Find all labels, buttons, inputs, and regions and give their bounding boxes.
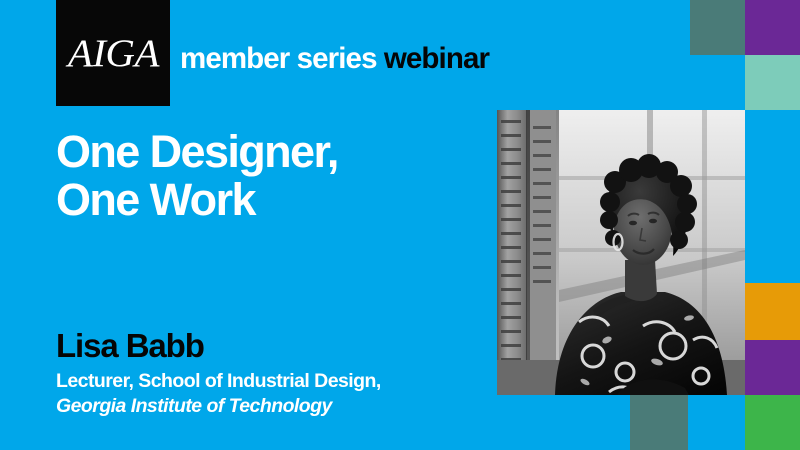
webinar-promo-slide: AIGA member series webinar One Designer,… <box>0 0 800 450</box>
swatch-mint-row2-right <box>745 55 800 110</box>
series-label-dark: webinar <box>384 42 489 75</box>
speaker-photo <box>497 110 745 395</box>
swatch-teal-bottom-left <box>630 395 688 450</box>
swatch-teal-top-left <box>690 0 745 55</box>
speaker-organization: Georgia Institute of Technology <box>56 394 486 419</box>
speaker-role: Lecturer, School of Industrial Design, <box>56 369 486 394</box>
series-label-light: member series <box>180 42 384 75</box>
swatch-purple-top-right <box>745 0 800 55</box>
slide-title-line-2: One Work <box>56 176 476 224</box>
swatch-green-bottom <box>745 395 800 450</box>
swatch-purple-bottom <box>745 340 800 395</box>
aiga-wordmark: AIGA <box>67 34 158 73</box>
speaker-name: Lisa Babb <box>56 328 486 364</box>
slide-title-line-1: One Designer, <box>56 128 476 176</box>
swatch-orange-mid-right <box>745 283 800 340</box>
speaker-credit: Lisa Babb Lecturer, School of Industrial… <box>56 328 486 419</box>
slide-title: One Designer, One Work <box>56 128 476 223</box>
aiga-logo-box: AIGA <box>56 0 170 106</box>
speaker-photo-image <box>497 110 745 395</box>
series-label: member series webinar <box>180 44 489 74</box>
